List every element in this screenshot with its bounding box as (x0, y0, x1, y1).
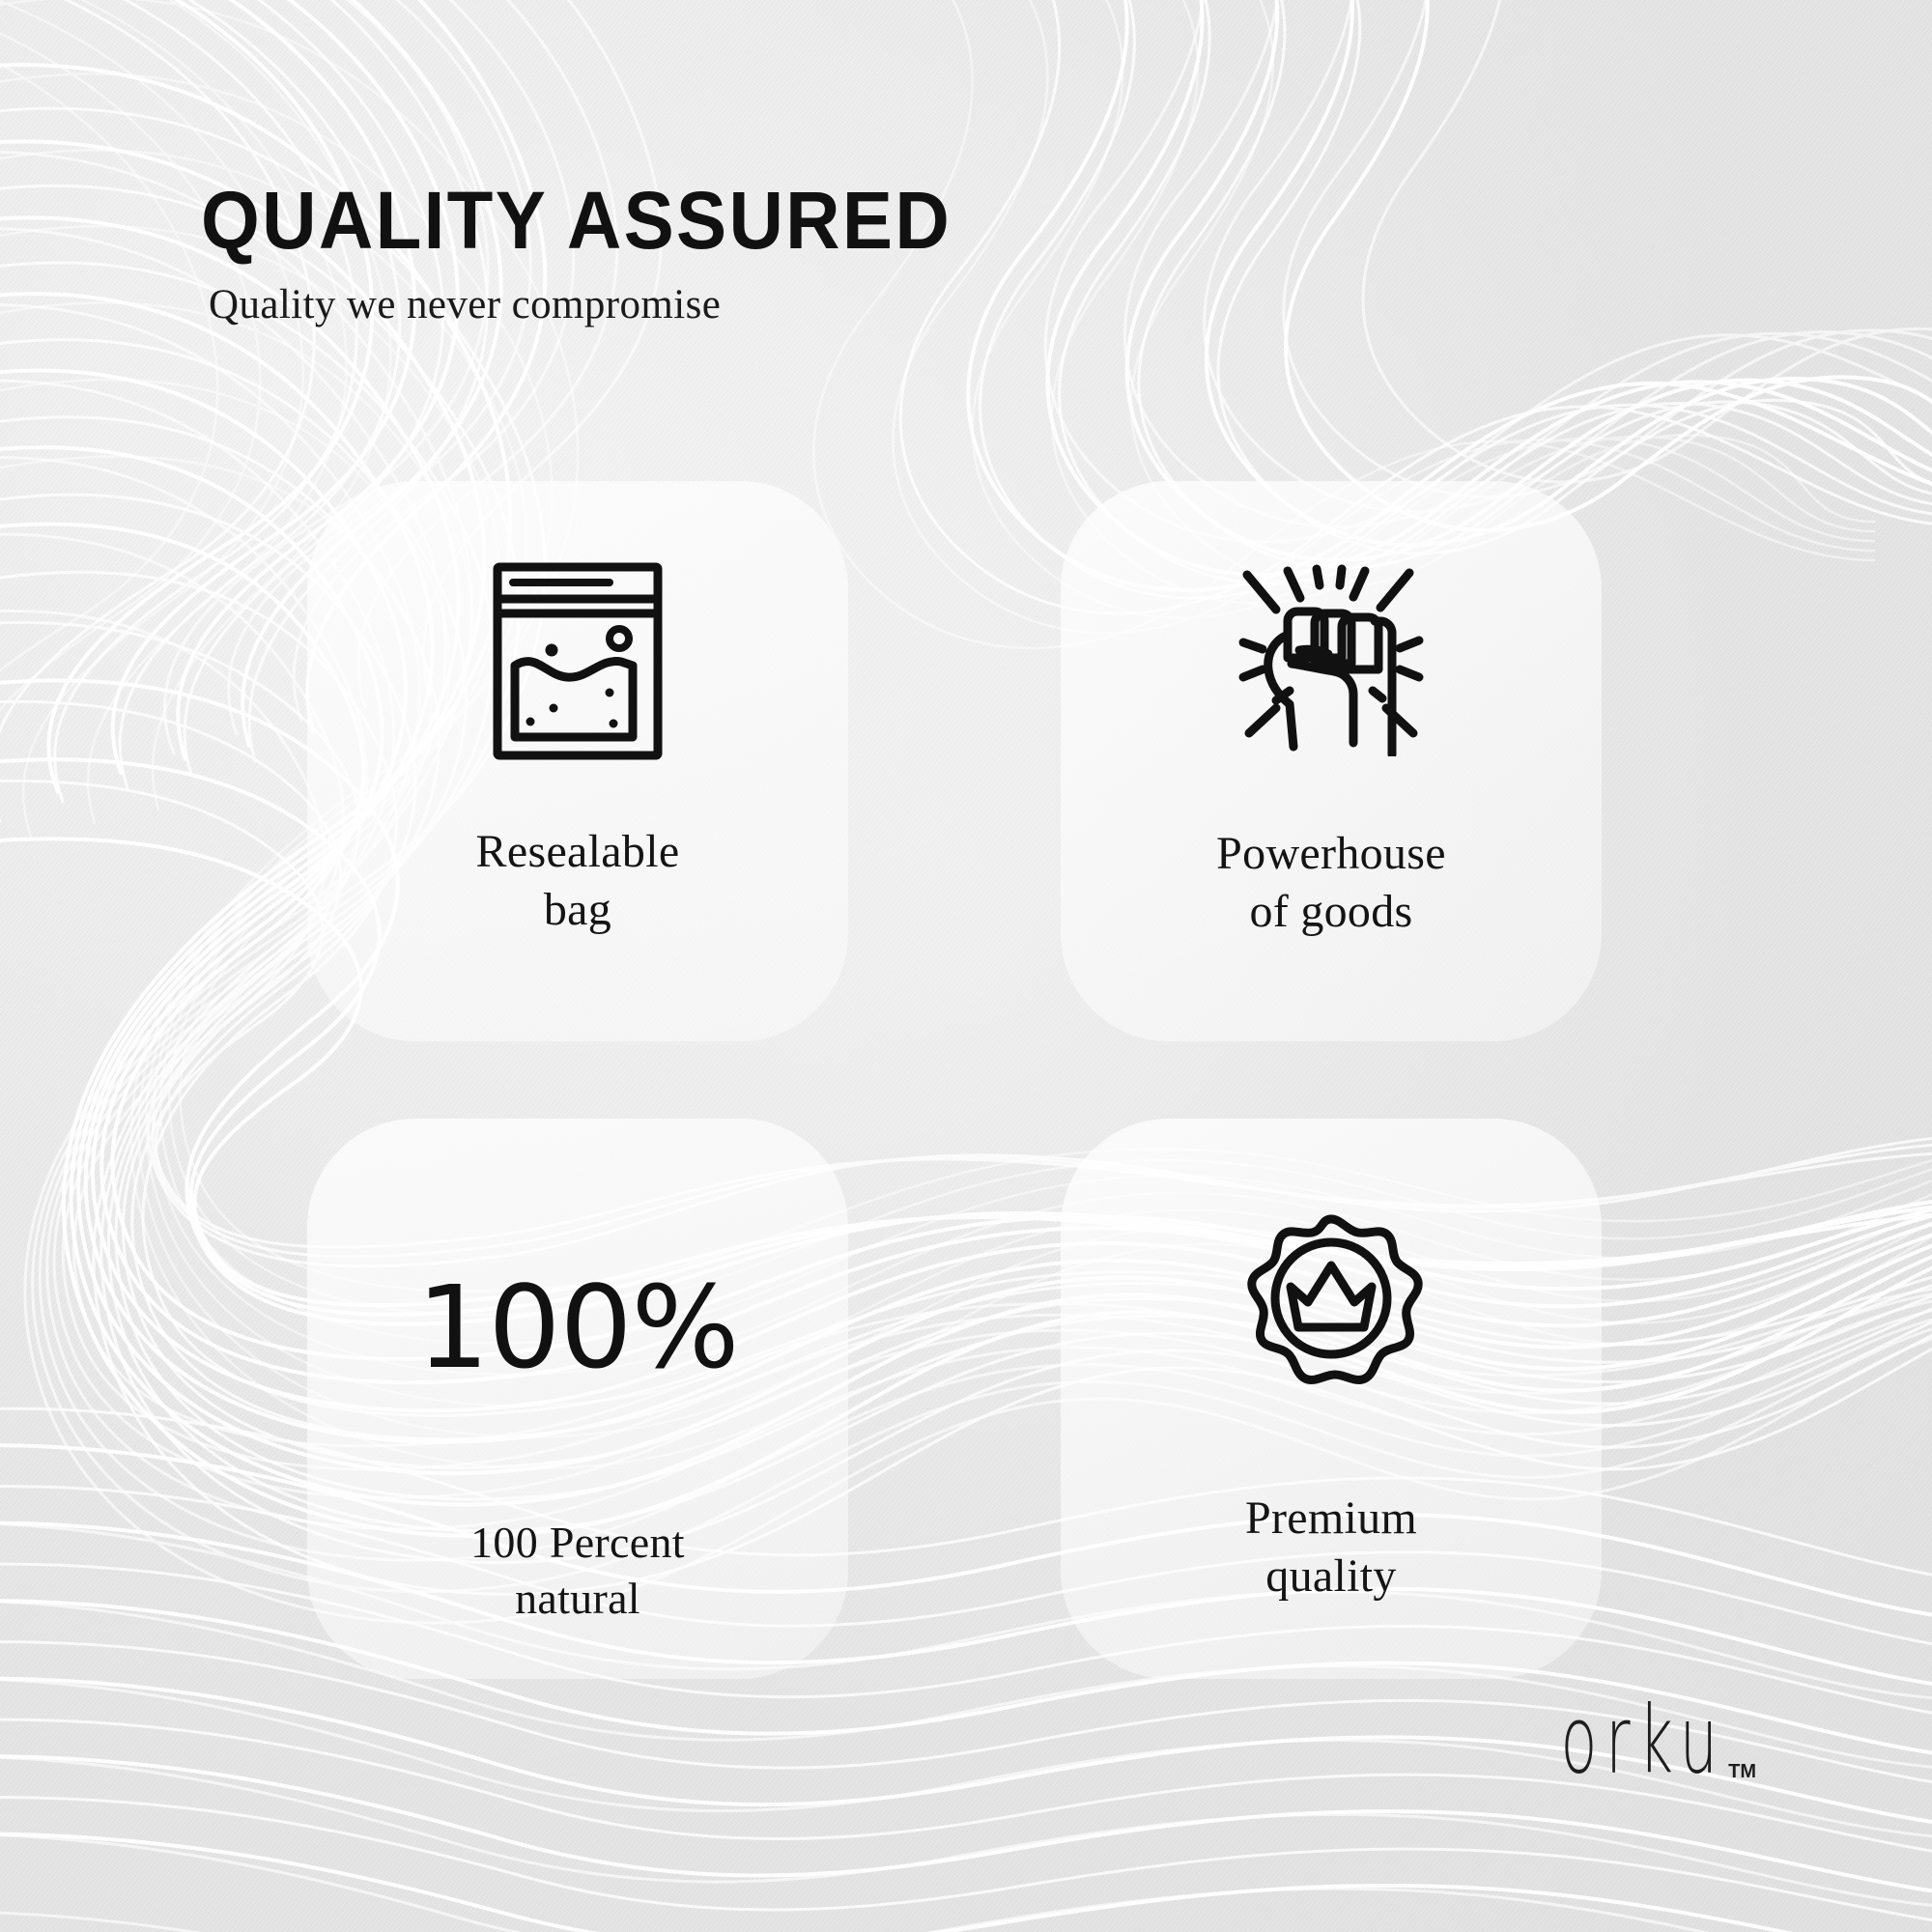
feature-card-premium: Premium quality (1061, 1119, 1602, 1679)
trademark-symbol: TM (1728, 1762, 1756, 1781)
resealable-bag-icon (307, 481, 848, 806)
stat-value: 100% (416, 1270, 738, 1384)
feature-grid: Resealable bag (307, 481, 1660, 1679)
feature-card-natural: 100% 100 Percent natural (307, 1119, 848, 1679)
feature-card-resealable-bag: Resealable bag (307, 481, 848, 1041)
feature-card-label: 100 Percent natural (470, 1515, 685, 1626)
feature-card-label: Resealable bag (476, 823, 680, 939)
brand-name: orku (1561, 1694, 1726, 1787)
crown-badge-icon (1061, 1119, 1602, 1451)
percent-stat: 100% (307, 1119, 848, 1472)
feature-card-label: Powerhouse of goods (1216, 825, 1446, 941)
poster-header: QUALITY ASSURED Quality we never comprom… (201, 180, 1360, 327)
brand-logo: orku TM (1496, 1704, 1756, 1787)
poster-content: QUALITY ASSURED Quality we never comprom… (0, 0, 1932, 1932)
poster-canvas: QUALITY ASSURED Quality we never comprom… (0, 0, 1932, 1932)
raised-fist-icon (1061, 481, 1602, 800)
feature-card-powerhouse: Powerhouse of goods (1061, 481, 1602, 1041)
page-subtitle: Quality we never compromise (209, 282, 1360, 327)
page-title: QUALITY ASSURED (201, 180, 1279, 261)
feature-card-label: Premium quality (1245, 1490, 1417, 1605)
